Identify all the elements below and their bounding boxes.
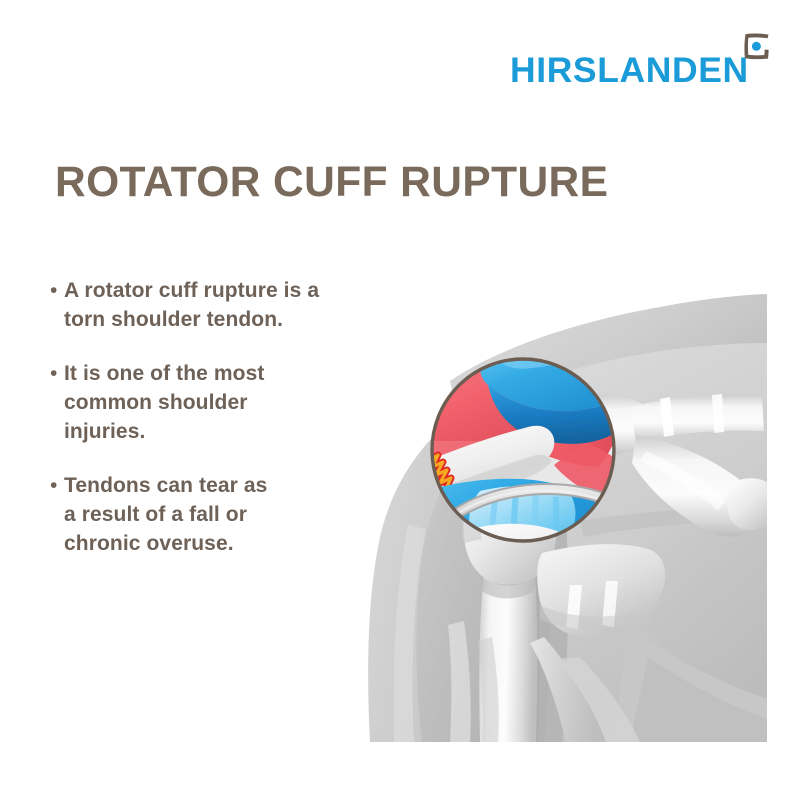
bullet-marker-icon: •: [50, 471, 64, 500]
hirslanden-logo: HIRSLANDEN: [510, 26, 780, 96]
bullet-marker-icon: •: [50, 359, 64, 388]
bullet-marker-icon: •: [50, 276, 64, 305]
page-title: ROTATOR CUFF RUPTURE: [55, 160, 608, 207]
shoulder-anatomy-illustration: [330, 285, 800, 755]
hirslanden-square-dot-icon: [741, 31, 772, 62]
hirslanden-wordmark: HIRSLANDEN: [510, 53, 749, 89]
infographic-page: HIRSLANDEN ROTATOR CUFF RUPTURE • A rota…: [0, 0, 800, 800]
